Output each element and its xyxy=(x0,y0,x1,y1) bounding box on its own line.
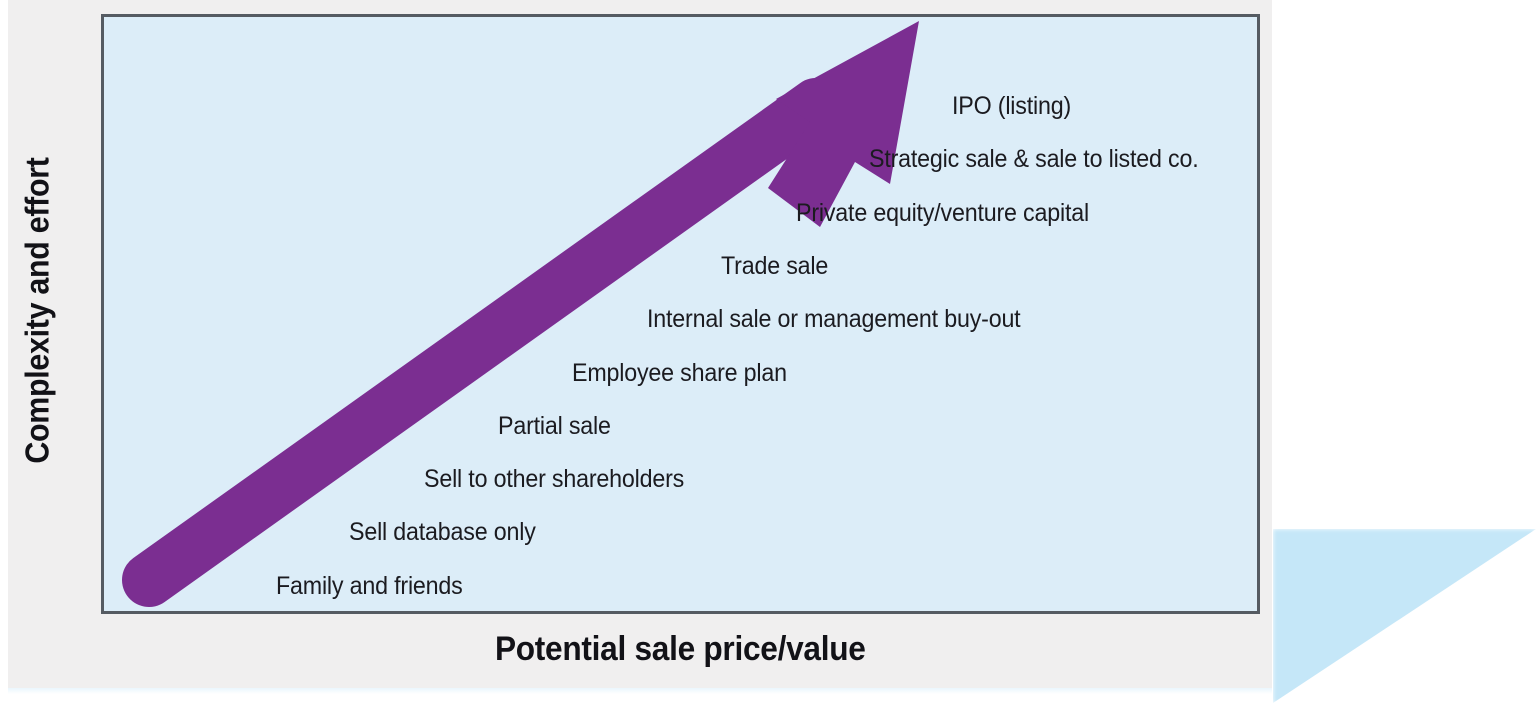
figure-card: Complexity and effort IPO (listing) Stra… xyxy=(8,0,1272,688)
stage-label-private-equity-venture-capital: Private equity/venture capital xyxy=(796,201,1089,226)
card-underline xyxy=(8,688,1272,694)
decorative-triangle xyxy=(1273,529,1536,703)
stage-label-ipo-listing: IPO (listing) xyxy=(952,94,1071,119)
stage-label-strategic-sale: Strategic sale & sale to listed co. xyxy=(869,147,1198,172)
y-axis-title: Complexity and effort xyxy=(21,94,54,526)
plot-area: IPO (listing) Strategic sale & sale to l… xyxy=(101,14,1260,614)
stage-label-sell-database-only: Sell database only xyxy=(349,520,536,545)
stage-label-trade-sale: Trade sale xyxy=(721,254,828,279)
figure-canvas: Complexity and effort IPO (listing) Stra… xyxy=(0,0,1536,703)
stage-label-sell-to-other-shareholders: Sell to other shareholders xyxy=(424,467,684,492)
arrow-shaft xyxy=(149,105,816,580)
stage-label-employee-share-plan: Employee share plan xyxy=(572,361,787,386)
stage-label-partial-sale: Partial sale xyxy=(498,414,611,439)
x-axis-title-text: Potential sale price/value xyxy=(495,632,866,666)
x-axis-title: Potential sale price/value xyxy=(101,632,1260,666)
stage-label-internal-sale-management-buy-out: Internal sale or management buy-out xyxy=(647,307,1020,332)
stage-label-family-and-friends: Family and friends xyxy=(276,574,463,599)
